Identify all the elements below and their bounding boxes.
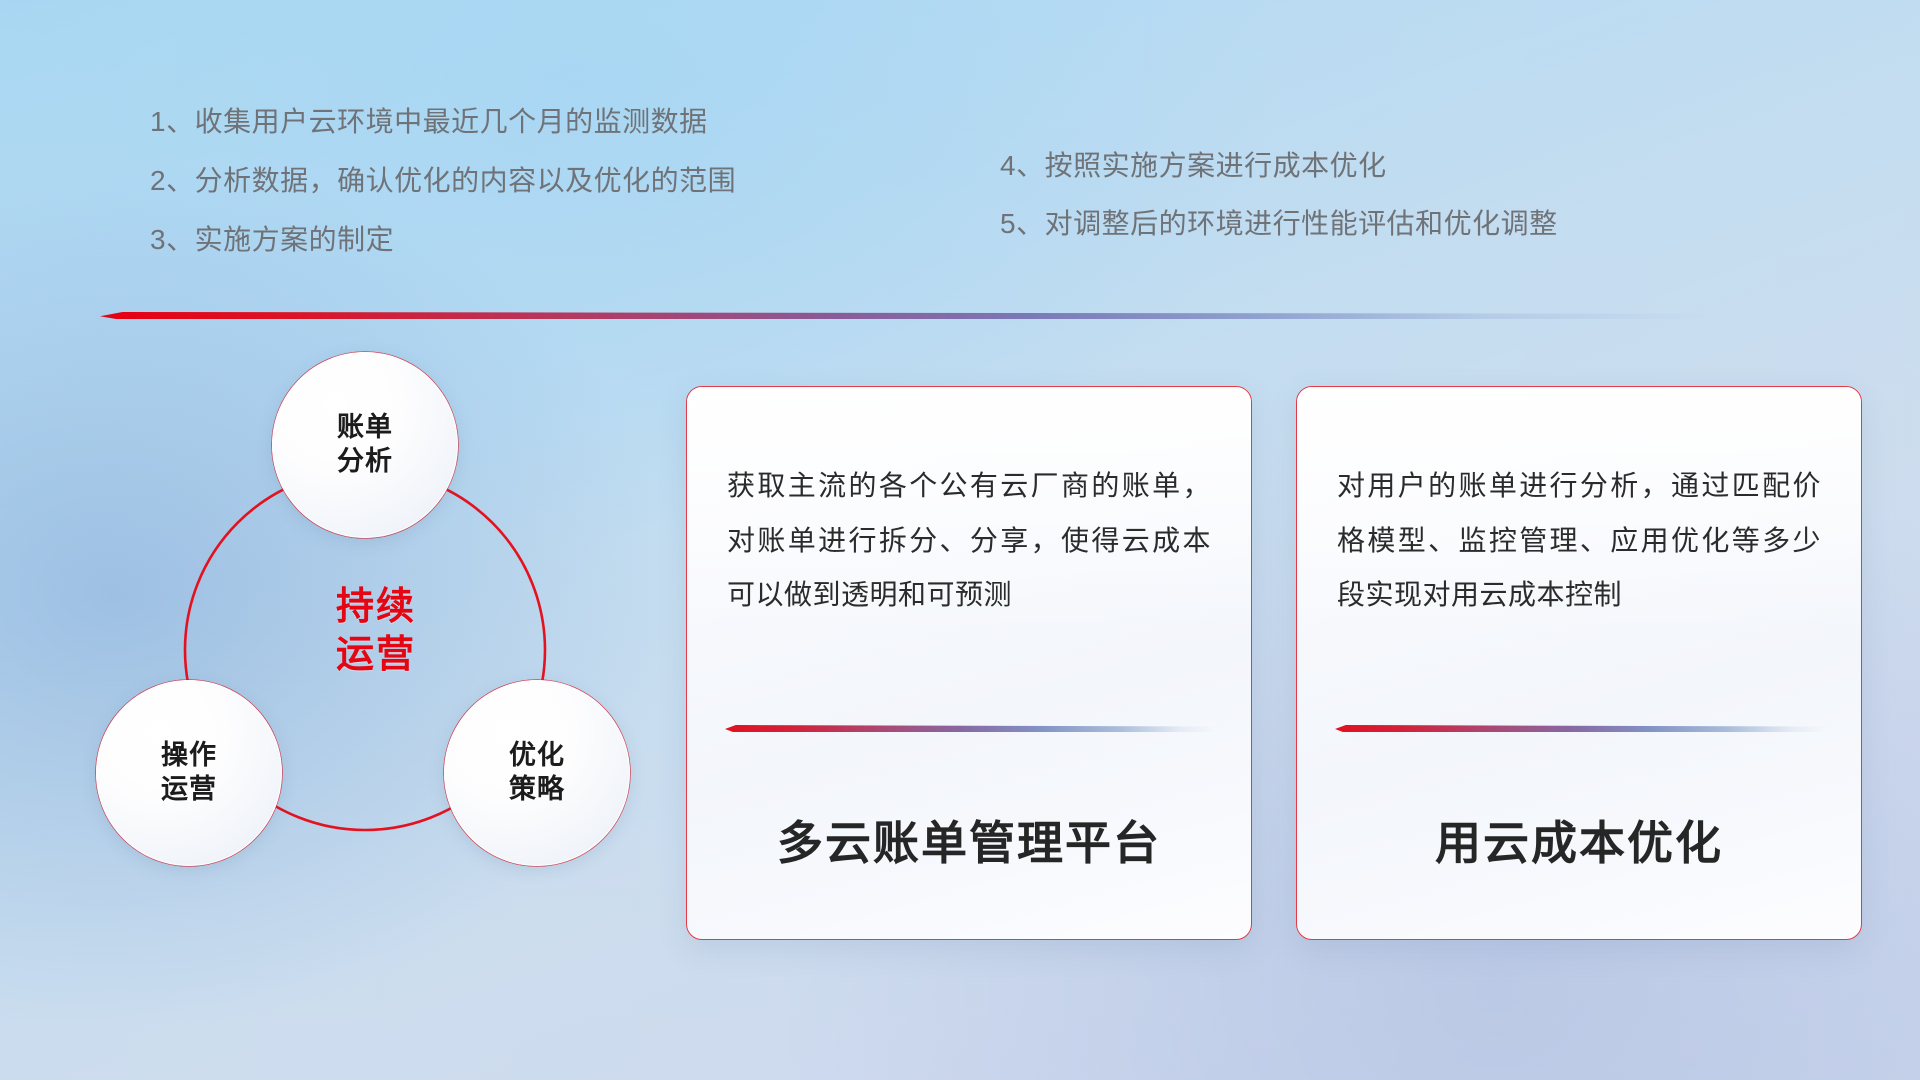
venn-bubble-bill-analysis[interactable]: 账单 分析 (272, 352, 458, 538)
venn-center-label: 持续 运营 (276, 584, 476, 679)
card-title: 多云账单管理平台 (687, 807, 1251, 873)
card-multi-cloud-bill-platform[interactable]: 获取主流的各个公有云厂商的账单，对账单进行拆分、分享，使得云成本可以做到透明和可… (686, 386, 1252, 940)
venn-bubble-label-line1: 优化 (509, 739, 565, 773)
venn-bubble-label-line2: 分析 (337, 445, 393, 479)
venn-bubble-label-line1: 账单 (337, 411, 393, 445)
bullet-item-3: 3、实施方案的制定 (150, 226, 736, 254)
card-body-text: 获取主流的各个公有云厂商的账单，对账单进行拆分、分享，使得云成本可以做到透明和可… (727, 459, 1211, 623)
card-cloud-cost-optimization[interactable]: 对用户的账单进行分析，通过匹配价格模型、监控管理、应用优化等多少段实现对用云成本… (1296, 386, 1862, 940)
venn-bubble-operation-management[interactable]: 操作 运营 (96, 680, 282, 866)
venn-bubble-label-line2: 运营 (161, 773, 217, 807)
continuous-operation-diagram: 账单 分析 操作 运营 优化 策略 持续 运营 (96, 352, 656, 952)
card-accent-rule (725, 725, 1215, 732)
venn-bubble-label-line1: 操作 (161, 739, 217, 773)
bullet-list-right: 4、按照实施方案进行成本优化 5、对调整后的环境进行性能评估和优化调整 (1000, 152, 1558, 268)
venn-center-label-line1: 持续 (276, 584, 476, 632)
section-divider (100, 312, 1710, 319)
bullet-item-2: 2、分析数据，确认优化的内容以及优化的范围 (150, 167, 736, 195)
venn-bubble-label-line2: 策略 (509, 773, 565, 807)
card-title: 用云成本优化 (1297, 807, 1861, 873)
venn-center-label-line2: 运营 (276, 632, 476, 680)
bullet-list-left: 1、收集用户云环境中最近几个月的监测数据 2、分析数据，确认优化的内容以及优化的… (150, 108, 736, 285)
bullet-item-5: 5、对调整后的环境进行性能评估和优化调整 (1000, 210, 1558, 238)
bullet-item-4: 4、按照实施方案进行成本优化 (1000, 152, 1558, 180)
card-accent-rule (1335, 725, 1825, 732)
card-body-text: 对用户的账单进行分析，通过匹配价格模型、监控管理、应用优化等多少段实现对用云成本… (1337, 459, 1821, 623)
venn-bubble-optimization-strategy[interactable]: 优化 策略 (444, 680, 630, 866)
bullet-item-1: 1、收集用户云环境中最近几个月的监测数据 (150, 108, 736, 136)
